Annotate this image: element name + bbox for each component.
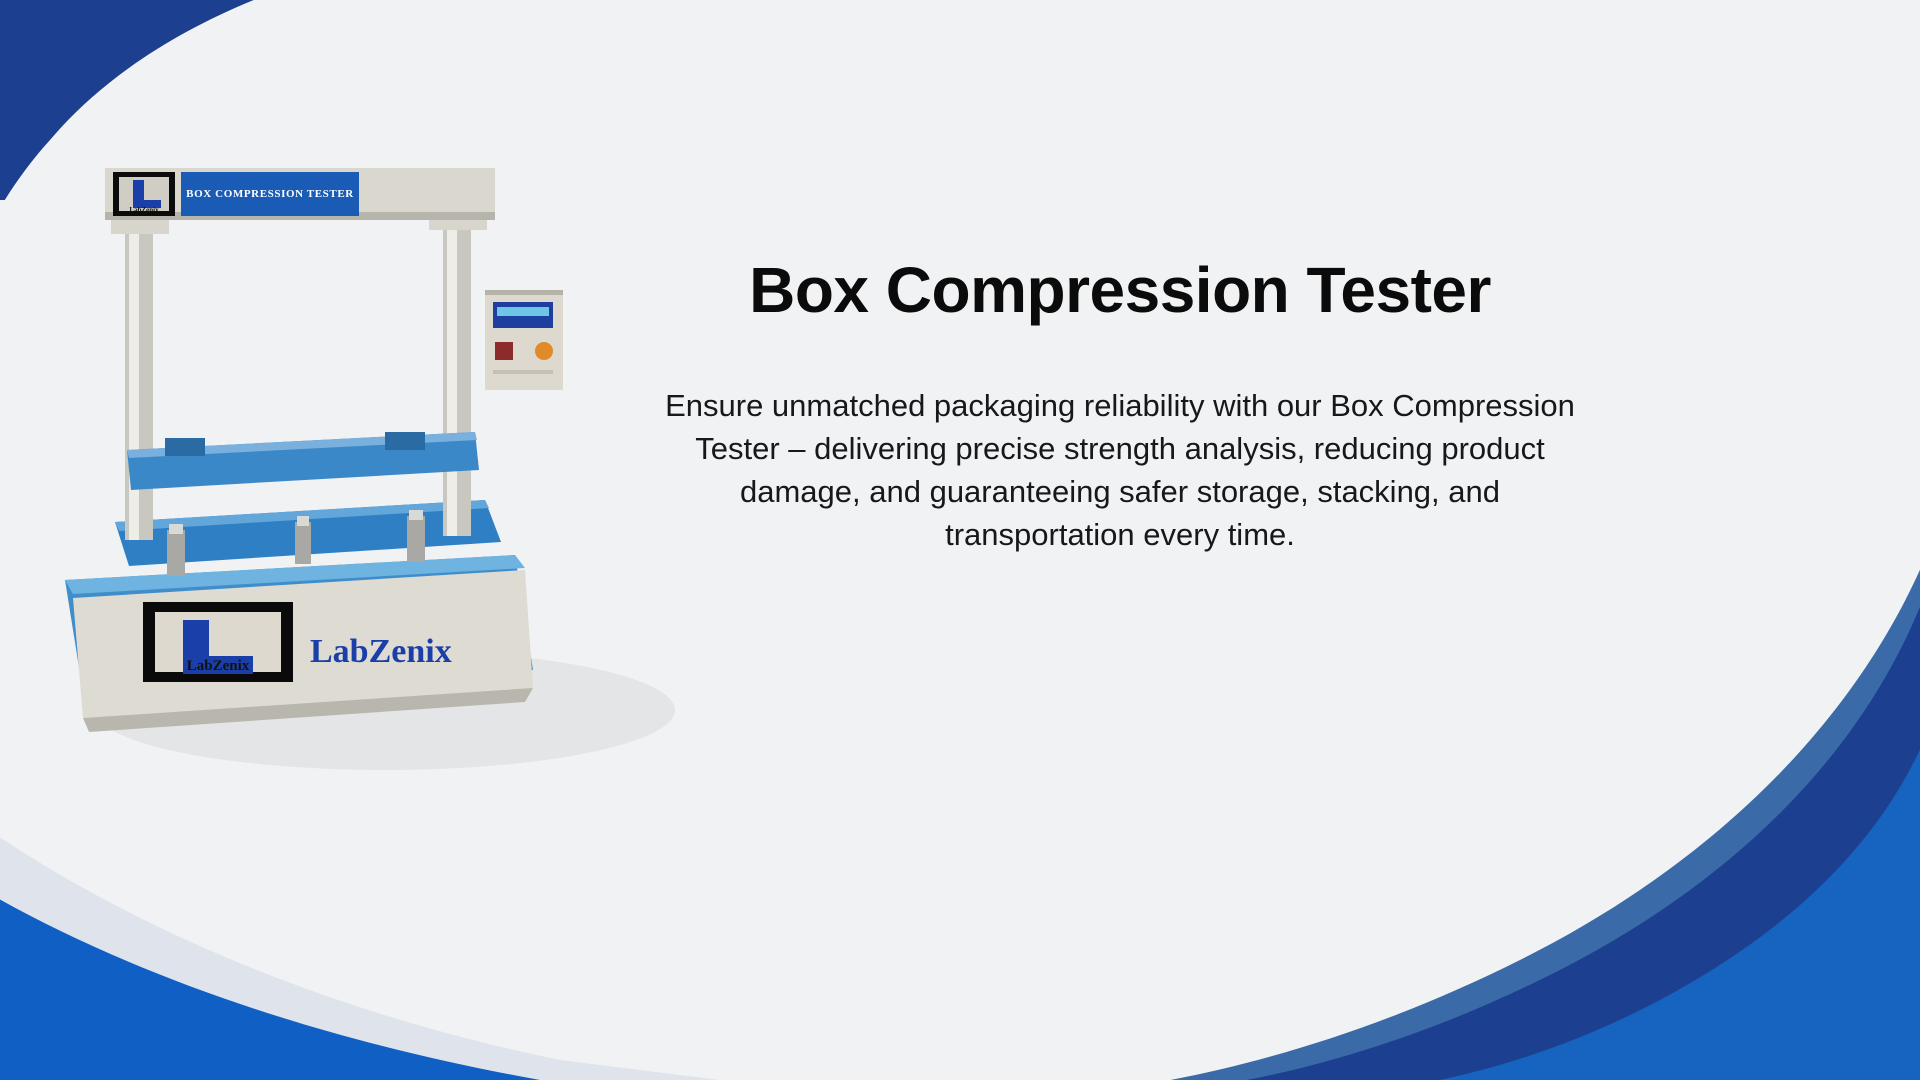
svg-text:LabZenix: LabZenix <box>187 658 250 674</box>
page-title: Box Compression Tester <box>640 255 1600 325</box>
machine-header: LabZenix BOX COMPRESSION TESTER <box>105 168 495 220</box>
decorative-swoosh-bottom-right <box>860 520 1920 1080</box>
description-line-4: transportation every time. <box>640 514 1600 557</box>
svg-text:LabZenix: LabZenix <box>129 206 159 214</box>
product-description: Ensure unmatched packaging reliability w… <box>640 385 1600 556</box>
description-line-1: Ensure unmatched packaging reliability w… <box>640 385 1600 428</box>
svg-text:BOX COMPRESSION TESTER: BOX COMPRESSION TESTER <box>186 188 354 200</box>
description-line-3: damage, and guaranteeing safer storage, … <box>640 471 1600 514</box>
machine-base: LabZenix LabZenix <box>65 555 533 732</box>
control-panel <box>485 290 563 390</box>
description-line-2: Tester – delivering precise strength ana… <box>640 428 1600 471</box>
content-column: Box Compression Tester Ensure unmatched … <box>640 255 1600 556</box>
svg-text:LabZenix: LabZenix <box>310 633 452 670</box>
slide-root: LabZenix LabZenix <box>0 0 1920 1080</box>
product-photo: LabZenix LabZenix <box>55 150 695 770</box>
